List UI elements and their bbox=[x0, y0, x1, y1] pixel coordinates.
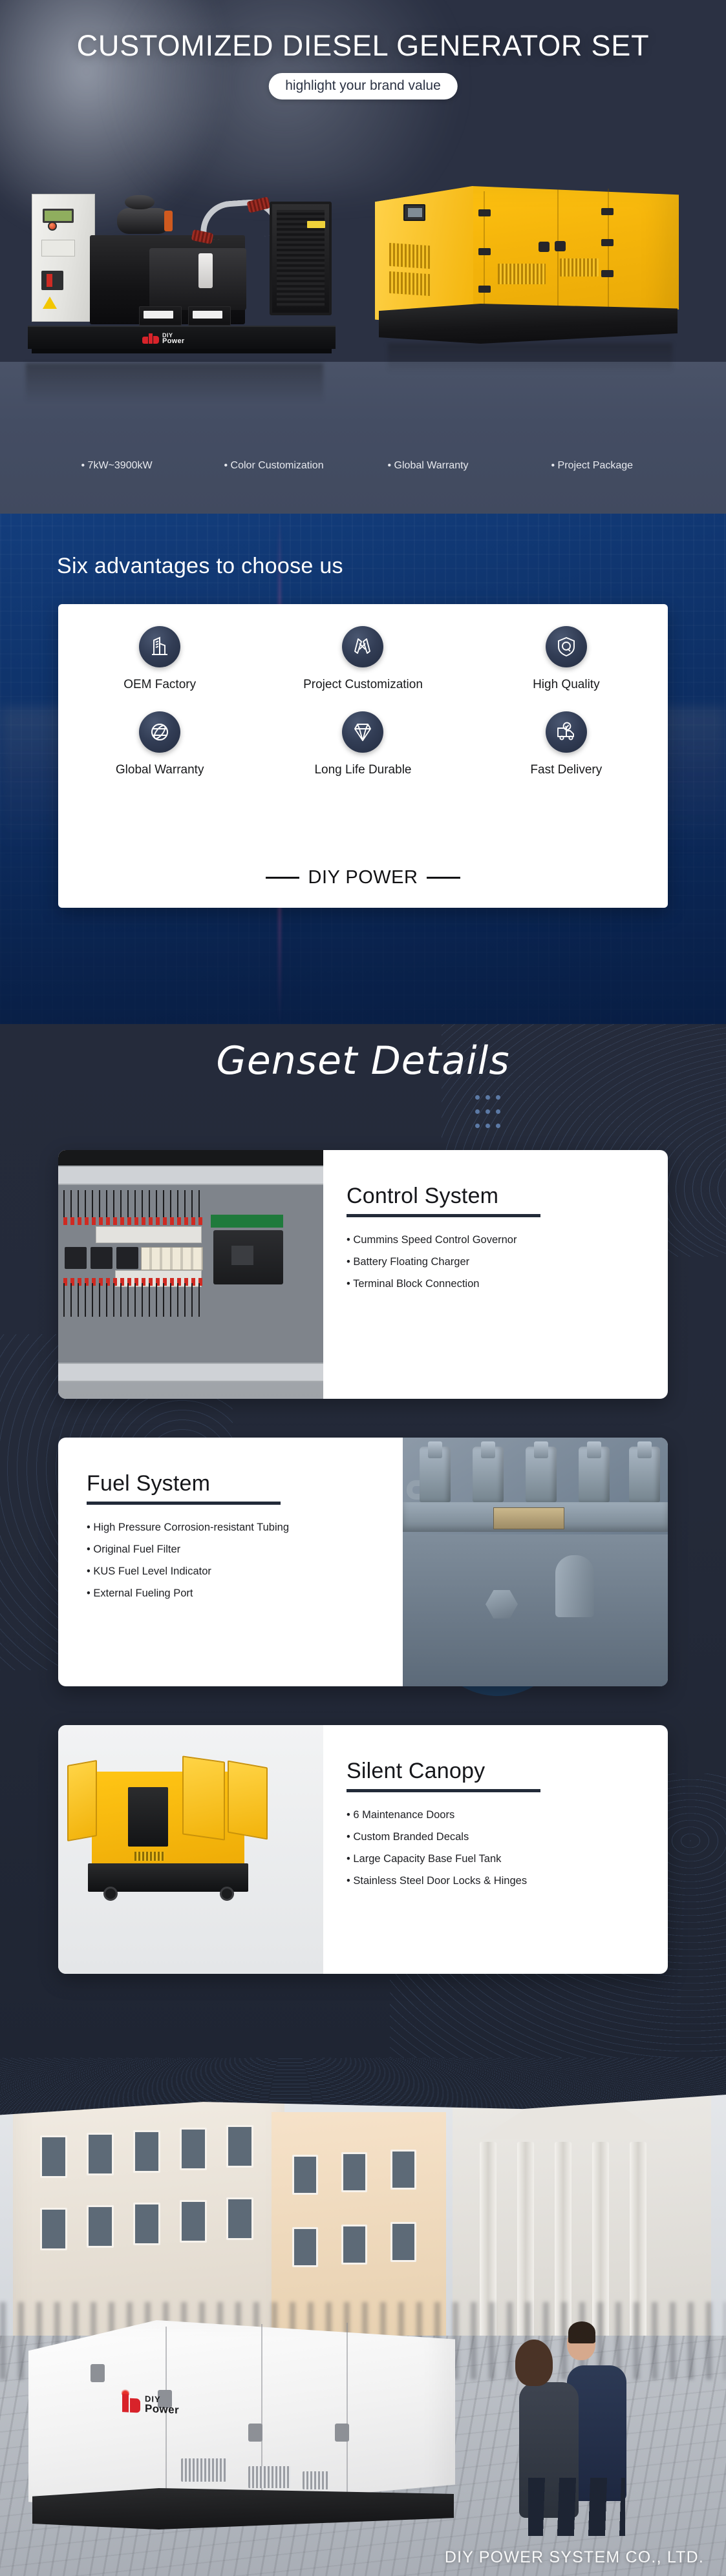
advantage-label: Project Customization bbox=[261, 678, 464, 692]
air-filter bbox=[117, 208, 170, 234]
fuel-injector bbox=[526, 1447, 557, 1502]
contactor bbox=[116, 1247, 138, 1269]
canopy-air-vent bbox=[389, 243, 431, 269]
canopy-hinge bbox=[335, 2424, 349, 2442]
diy-power-logo: DIY Power bbox=[111, 2391, 179, 2418]
hero-feature-item: 7kW~3900kW bbox=[36, 460, 200, 472]
canopy-wheel bbox=[103, 1887, 118, 1901]
pump-id-plate bbox=[493, 1507, 564, 1529]
detail-card-control-system: Control System Cummins Speed Control Gov… bbox=[58, 1150, 668, 1399]
panel-top-bar bbox=[58, 1150, 323, 1166]
engine-block bbox=[149, 248, 246, 310]
advantage-item-oem-factory[interactable]: OEM Factory bbox=[58, 626, 261, 692]
dse-controller-module bbox=[213, 1230, 283, 1284]
pencil-tools-icon bbox=[342, 626, 383, 667]
open-maintenance-door bbox=[228, 1761, 268, 1840]
fuel-injector bbox=[629, 1447, 660, 1502]
advantage-label: Long Life Durable bbox=[261, 763, 464, 777]
brand-divider: DIY POWER bbox=[58, 867, 668, 888]
advantages-card: OEM Factory Project Customization bbox=[58, 604, 668, 908]
logo-line-2: Power bbox=[162, 338, 185, 344]
details-heading: Genset Details bbox=[0, 1038, 726, 1084]
fuel-injector bbox=[579, 1447, 610, 1502]
control-panel-photo bbox=[58, 1150, 323, 1399]
advantage-item-global-warranty[interactable]: Global Warranty bbox=[58, 711, 261, 777]
building-window bbox=[180, 2200, 207, 2243]
diy-power-logo: DIY Power bbox=[142, 332, 185, 345]
generator-canopy-shell bbox=[28, 2320, 455, 2511]
canopy-door-latch bbox=[555, 241, 566, 251]
advantages-grid-row-2: Global Warranty Long Life Durable bbox=[58, 711, 668, 777]
detail-card-bullets: 6 Maintenance Doors Custom Branded Decal… bbox=[347, 1809, 642, 1887]
air-filter-cap bbox=[125, 195, 155, 209]
fuel-system-photo bbox=[403, 1438, 668, 1686]
globe-icon bbox=[139, 711, 180, 753]
building-window bbox=[133, 2130, 160, 2173]
advantage-label: Global Warranty bbox=[58, 763, 261, 777]
circuit-breaker bbox=[41, 271, 63, 290]
diy-power-logo-text: DIY Power bbox=[145, 2394, 179, 2416]
detail-bullet: Custom Branded Decals bbox=[347, 1831, 642, 1843]
pump-housing bbox=[403, 1534, 668, 1686]
detail-bullet: Terminal Block Connection bbox=[347, 1278, 642, 1290]
details-section: Genset Details bbox=[0, 1024, 726, 2058]
detail-card-title: Control System bbox=[347, 1184, 642, 1209]
advantage-label: High Quality bbox=[465, 678, 668, 692]
panel-label bbox=[41, 240, 75, 257]
warning-triangle-icon bbox=[43, 297, 57, 309]
hair bbox=[568, 2321, 595, 2343]
diy-power-logo-mark bbox=[111, 2391, 141, 2415]
controller-display bbox=[43, 209, 74, 223]
canopy-air-vent bbox=[248, 2466, 291, 2488]
building-window bbox=[341, 2225, 367, 2265]
diy-power-logo-text: DIY Power bbox=[162, 333, 185, 345]
detail-card-title: Fuel System bbox=[87, 1471, 387, 1496]
white-generator-image: DIY Power bbox=[28, 2297, 475, 2549]
title-underline bbox=[87, 1502, 281, 1505]
radiator-warning-label bbox=[307, 221, 325, 228]
detail-card-text: Fuel System High Pressure Corrosion-resi… bbox=[58, 1438, 403, 1686]
open-maintenance-door bbox=[67, 1760, 97, 1841]
canopy-hinge bbox=[248, 2424, 262, 2442]
building-window bbox=[133, 2203, 160, 2245]
hero-section: CUSTOMIZED DIESEL GENERATOR SET highligh… bbox=[0, 0, 726, 514]
advantages-heading: Six advantages to choose us bbox=[57, 554, 343, 579]
emergency-stop-icon bbox=[48, 222, 57, 231]
battery bbox=[188, 306, 231, 326]
canopy-door-seam bbox=[557, 189, 559, 325]
shield-quality-icon bbox=[546, 626, 587, 667]
detail-card-title: Silent Canopy bbox=[347, 1759, 642, 1784]
product-landing-page: CUSTOMIZED DIESEL GENERATOR SET highligh… bbox=[0, 0, 726, 2576]
detail-card-fuel-system: Fuel System High Pressure Corrosion-resi… bbox=[58, 1438, 668, 1686]
company-caption: DIY POWER SYSTEM CO., LTD. bbox=[445, 2548, 704, 2567]
advantage-item-long-life-durable[interactable]: Long Life Durable bbox=[261, 711, 464, 777]
divider-rule-right bbox=[427, 877, 460, 879]
detail-card-bullets: High Pressure Corrosion-resistant Tubing… bbox=[87, 1522, 387, 1600]
hair bbox=[515, 2340, 553, 2386]
canopy-base-fuel-tank bbox=[32, 2488, 454, 2529]
building-window bbox=[390, 2150, 416, 2190]
title-underline bbox=[347, 1789, 540, 1792]
hero-feature-item: Project Package bbox=[527, 460, 690, 472]
diy-power-logo-mark bbox=[142, 332, 160, 345]
logo-line-2: Power bbox=[145, 2403, 179, 2416]
oil-filter bbox=[198, 253, 213, 288]
advantage-item-high-quality[interactable]: High Quality bbox=[465, 626, 668, 692]
legs bbox=[528, 2478, 625, 2536]
generator-control-panel bbox=[32, 194, 95, 322]
canopy-door-latch bbox=[539, 242, 550, 252]
silent-canopy-photo bbox=[58, 1725, 323, 1974]
canopy-interior bbox=[128, 1787, 168, 1847]
detail-bullet: Stainless Steel Door Locks & Hinges bbox=[347, 1875, 642, 1887]
canopy-hinge bbox=[478, 286, 491, 293]
relay-bank bbox=[141, 1247, 203, 1270]
detail-bullet: External Fueling Port bbox=[87, 1587, 387, 1600]
delivery-truck-icon bbox=[546, 711, 587, 753]
detail-bullet: KUS Fuel Level Indicator bbox=[87, 1565, 387, 1578]
canopy-hinge bbox=[478, 209, 491, 216]
title-underline bbox=[347, 1214, 540, 1217]
wire-ferrules bbox=[63, 1217, 206, 1225]
detail-bullet: Original Fuel Filter bbox=[87, 1544, 387, 1556]
hero-feature-item: Global Warranty bbox=[363, 460, 527, 472]
canopy-door-seam bbox=[347, 2323, 348, 2502]
building-window bbox=[292, 2155, 318, 2195]
diamond-icon bbox=[342, 711, 383, 753]
building-window bbox=[87, 2133, 114, 2175]
fuel-injector bbox=[420, 1447, 451, 1502]
detail-bullet: High Pressure Corrosion-resistant Tubing bbox=[87, 1522, 387, 1534]
canopy-air-vent bbox=[303, 2471, 328, 2489]
building-window bbox=[87, 2205, 114, 2248]
open-frame-generator-image: DIY Power bbox=[23, 176, 343, 363]
canopy-air-vent bbox=[389, 271, 431, 296]
canopy-hinge bbox=[601, 208, 614, 215]
building-window bbox=[40, 2208, 67, 2250]
building-window bbox=[341, 2152, 367, 2192]
din-rail bbox=[58, 1166, 323, 1185]
wire-bundle bbox=[63, 1283, 206, 1317]
detail-card-bullets: Cummins Speed Control Governor Battery F… bbox=[347, 1234, 642, 1290]
building-window bbox=[226, 2125, 253, 2168]
building-window bbox=[40, 2135, 67, 2178]
brand-name: DIY POWER bbox=[308, 867, 418, 888]
fuel-injector bbox=[473, 1447, 504, 1502]
canopy-generator-image bbox=[375, 186, 698, 372]
factory-building-icon bbox=[139, 626, 180, 667]
contactor bbox=[91, 1247, 112, 1269]
fuel-cylinder bbox=[555, 1555, 594, 1617]
canopy-base-fuel-tank bbox=[379, 304, 678, 344]
detail-bullet: Battery Floating Charger bbox=[347, 1256, 642, 1268]
advantages-grid-row-1: OEM Factory Project Customization bbox=[58, 626, 668, 692]
advantage-item-project-customization[interactable]: Project Customization bbox=[261, 626, 464, 692]
charger-pcb bbox=[211, 1215, 283, 1228]
page-title: CUSTOMIZED DIESEL GENERATOR SET bbox=[0, 29, 726, 63]
canopy-wheel bbox=[220, 1887, 234, 1901]
open-generator-reflection bbox=[26, 363, 323, 403]
detail-bullet: Large Capacity Base Fuel Tank bbox=[347, 1853, 642, 1865]
building-window bbox=[292, 2227, 318, 2267]
canopy-hinge bbox=[91, 2364, 105, 2382]
battery bbox=[139, 306, 182, 326]
radiator bbox=[270, 202, 332, 315]
open-maintenance-door bbox=[182, 1755, 225, 1840]
advantage-label: OEM Factory bbox=[58, 678, 261, 692]
hero-feature-item: Color Customization bbox=[200, 460, 363, 472]
detail-bullet: 6 Maintenance Doors bbox=[347, 1809, 642, 1821]
detail-card-text: Silent Canopy 6 Maintenance Doors Custom… bbox=[323, 1725, 668, 1974]
canopy-air-vent bbox=[181, 2458, 226, 2482]
advantages-section: Six advantages to choose us OEM Factory bbox=[0, 514, 726, 1024]
detail-card-text: Control System Cummins Speed Control Gov… bbox=[323, 1150, 668, 1399]
divider-rule-left bbox=[266, 877, 299, 879]
building-window bbox=[226, 2197, 253, 2240]
building-window bbox=[180, 2128, 207, 2170]
terminal-block bbox=[96, 1226, 202, 1243]
canopy-air-vent bbox=[134, 1852, 164, 1861]
canopy-hinge bbox=[601, 270, 614, 277]
hero-feature-list: 7kW~3900kW Color Customization Global Wa… bbox=[0, 460, 726, 472]
canopy-hinge bbox=[478, 248, 491, 255]
advantage-item-fast-delivery[interactable]: Fast Delivery bbox=[465, 711, 668, 777]
canopy-air-vent bbox=[498, 264, 546, 284]
canopy-hinge bbox=[601, 239, 614, 246]
contactor bbox=[65, 1247, 87, 1269]
advantage-label: Fast Delivery bbox=[465, 763, 668, 777]
walking-couple bbox=[513, 2316, 655, 2529]
hero-badge: highlight your brand value bbox=[268, 73, 458, 99]
dot-grid-decoration bbox=[475, 1095, 506, 1138]
canopy-controller-window bbox=[403, 204, 425, 221]
detail-bullet: Cummins Speed Control Governor bbox=[347, 1234, 642, 1246]
canopy-air-vent bbox=[560, 258, 599, 277]
detail-card-silent-canopy: Silent Canopy 6 Maintenance Doors Custom… bbox=[58, 1725, 668, 1974]
footer-photo-section: DIY Power DIY POWER SYSTEM CO., LTD. bbox=[0, 2058, 726, 2576]
canopy-reflection bbox=[388, 343, 672, 373]
building-window bbox=[390, 2222, 416, 2262]
cable-duct bbox=[58, 1363, 323, 1382]
